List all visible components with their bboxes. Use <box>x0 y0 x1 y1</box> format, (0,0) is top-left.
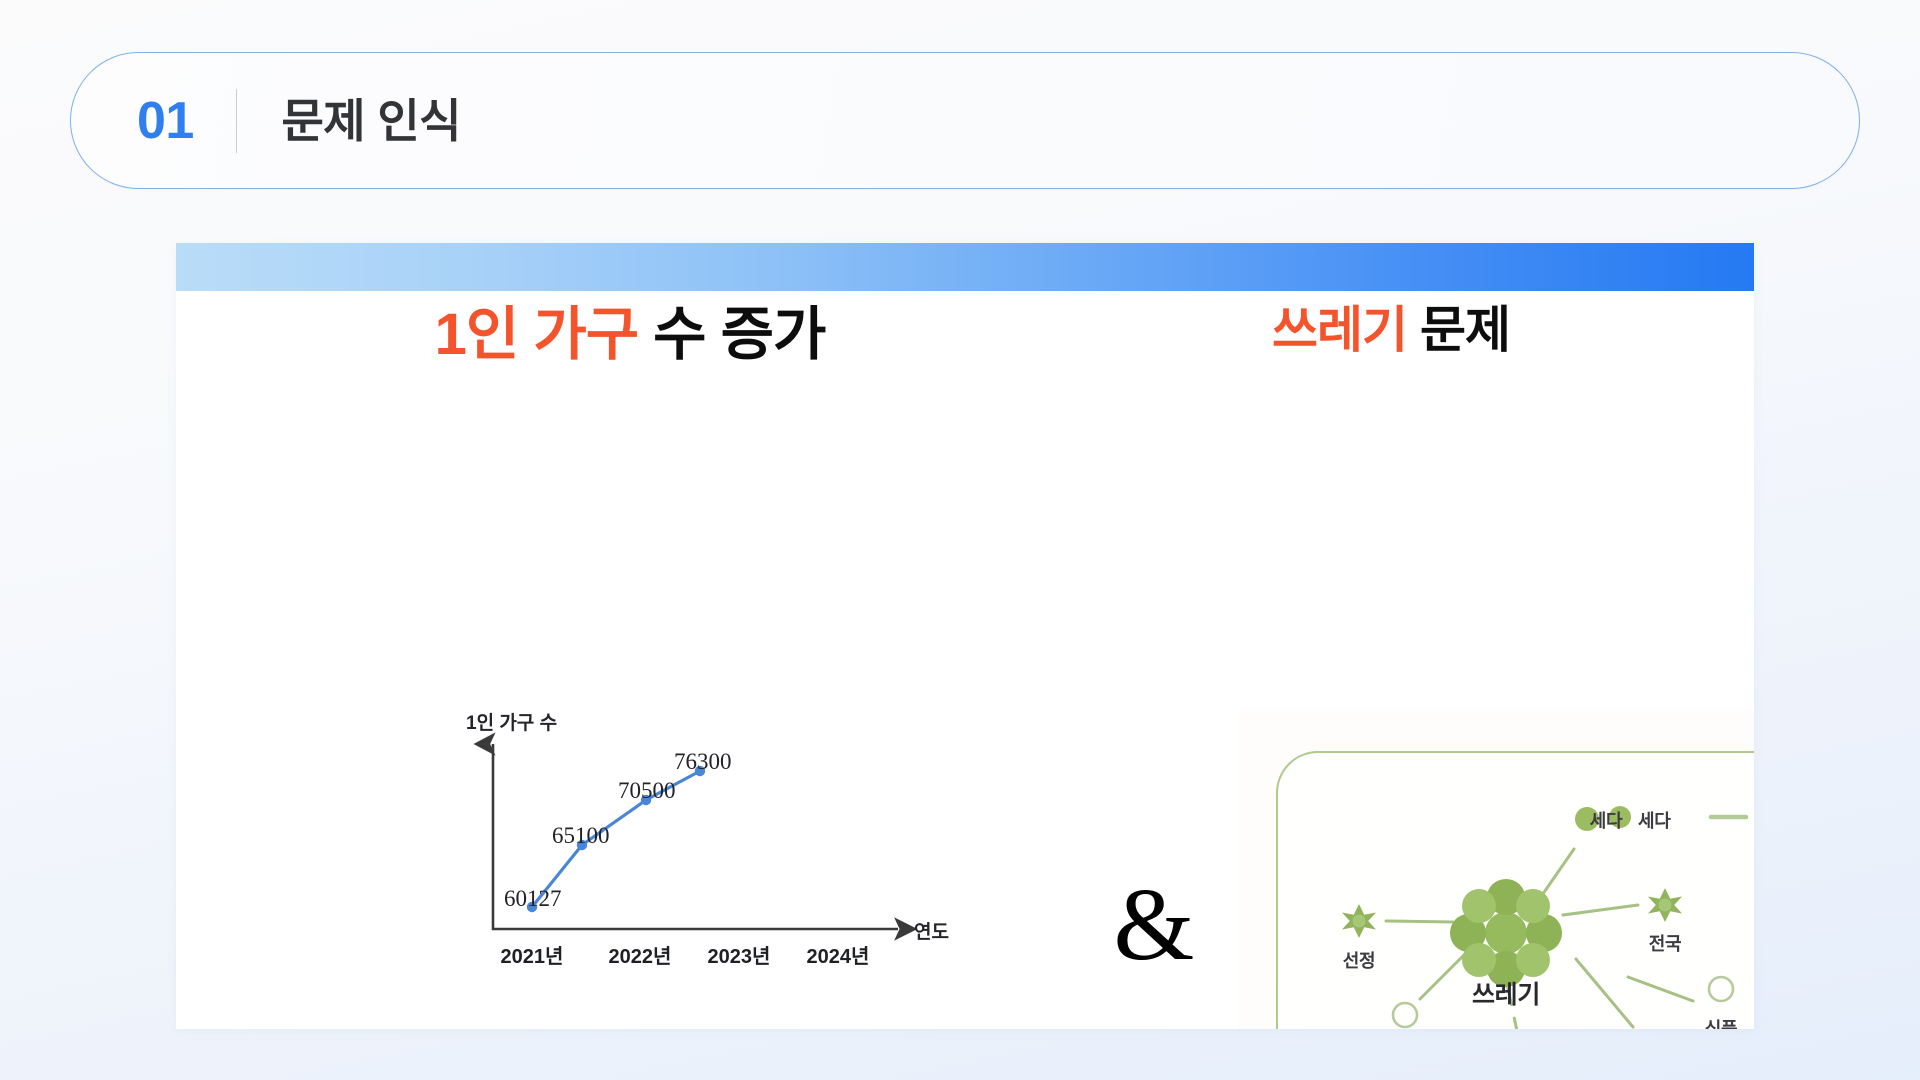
node-label-jeonguk: 전국 <box>1649 930 1682 956</box>
ampersand-connector: & <box>1094 873 1214 977</box>
left-title-accent: 1인 가구 <box>435 302 638 367</box>
node-label-sikpum: 식품 <box>1705 1015 1738 1029</box>
node-label-seonjeong: 선정 <box>1343 947 1376 973</box>
header-divider <box>236 89 238 153</box>
node-icon-jeonguk <box>1648 888 1682 922</box>
section-number: 01 <box>137 95 194 147</box>
chart-y-axis-label: 1인 가구 수 <box>466 708 557 735</box>
trash-network-diagram: 세다 리스트 세다 선정 전국 기관 의원 지역 식품 쓰레기 <box>1238 709 1754 1029</box>
chart-value-label-2023: 70500 <box>618 778 676 804</box>
chart-x-axis-label: 연도 <box>914 917 949 944</box>
node-icon-seonjeong <box>1342 904 1376 938</box>
slide-card: 1인 가구 수 증가 쓰레기 문제 & 1인 가구 수 <box>176 243 1754 1029</box>
section-header-pill: 01 문제 인식 <box>70 52 1860 189</box>
edge-center-to-seonjeong <box>1386 921 1453 922</box>
chart-x-tick-2021: 2021년 <box>501 940 564 969</box>
flower-cluster-icon <box>1450 879 1562 987</box>
card-gradient-bar <box>176 243 1754 291</box>
line-chart: 1인 가구 수 60127 <box>446 708 966 1029</box>
chart-x-tick-2022: 2022년 <box>609 940 672 969</box>
page-title: 문제 인식 <box>281 98 461 144</box>
right-title-accent: 쓰레기 <box>1272 302 1407 358</box>
chart-x-tick-2023: 2023년 <box>708 940 771 969</box>
chart-x-tick-2024: 2024년 <box>807 940 870 969</box>
node-icon-gigwan <box>1393 1003 1417 1027</box>
edge-center-to-gigwan <box>1420 953 1466 999</box>
node-label-seda: 세다 <box>1590 807 1623 833</box>
left-column-title: 1인 가구 수 증가 <box>260 303 1000 367</box>
chart-value-label-2021: 60127 <box>504 886 562 912</box>
legend-label-seda: 세다 <box>1638 807 1671 833</box>
right-column-title: 쓰레기 문제 <box>1046 303 1736 358</box>
chart-value-label-2024: 76300 <box>674 749 732 775</box>
left-title-rest: 수 증가 <box>638 302 825 367</box>
node-icon-sikpum <box>1709 977 1733 1001</box>
edge-center-to-jiyeok <box>1576 959 1633 1027</box>
node-label-center-trash: 쓰레기 <box>1472 975 1540 1011</box>
chart-value-label-2022: 65100 <box>552 823 610 849</box>
right-title-rest: 문제 <box>1407 302 1510 358</box>
edge-jeonguk-to-jiyeok <box>1628 977 1693 1001</box>
edge-center-to-jeonguk <box>1563 905 1638 915</box>
